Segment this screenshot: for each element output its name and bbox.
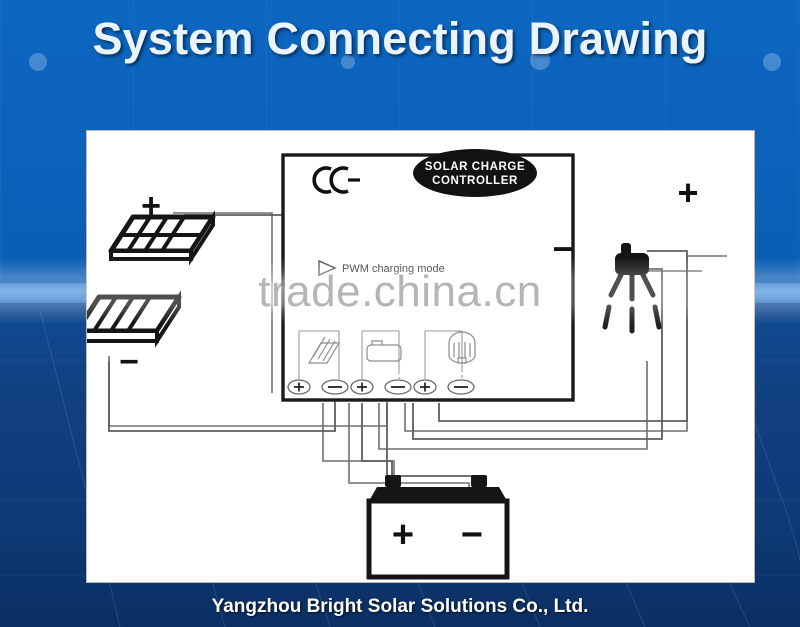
battery-graphic: + − [369,475,507,577]
terminal-load-negative[interactable] [448,380,474,394]
solar-panel-graphic: + − [87,187,213,381]
pwm-mode-label: PWM charging mode [342,263,445,275]
page-title: System Connecting Drawing [0,8,800,70]
diagram-panel: SOLAR CHARGE CONTROLLER PWM charging mod… [86,130,755,583]
terminal-pv-negative[interactable] [322,380,348,394]
battery-negative-label: − [461,514,483,556]
company-footer: Yangzhou Bright Solar Solutions Co., Ltd… [0,592,800,622]
load-negative-label: − [552,228,573,269]
controller-badge: SOLAR CHARGE CONTROLLER [413,149,537,197]
badge-line-2: CONTROLLER [432,175,518,187]
load-positive-label: + [677,172,698,213]
terminal-load-positive[interactable] [414,380,436,394]
system-connecting-drawing-slide: System Connecting Drawing [0,0,800,627]
terminal-battery-negative[interactable] [385,380,411,394]
wiring-diagram: SOLAR CHARGE CONTROLLER PWM charging mod… [87,131,756,584]
solar-positive-label: + [141,187,161,225]
terminal-pv-positive[interactable] [288,380,310,394]
terminal-battery-positive[interactable] [351,380,373,394]
badge-line-1: SOLAR CHARGE [425,161,525,173]
solar-negative-label: − [119,343,139,381]
solar-charge-controller: SOLAR CHARGE CONTROLLER PWM charging mod… [283,149,573,400]
battery-positive-label: + [392,514,414,556]
